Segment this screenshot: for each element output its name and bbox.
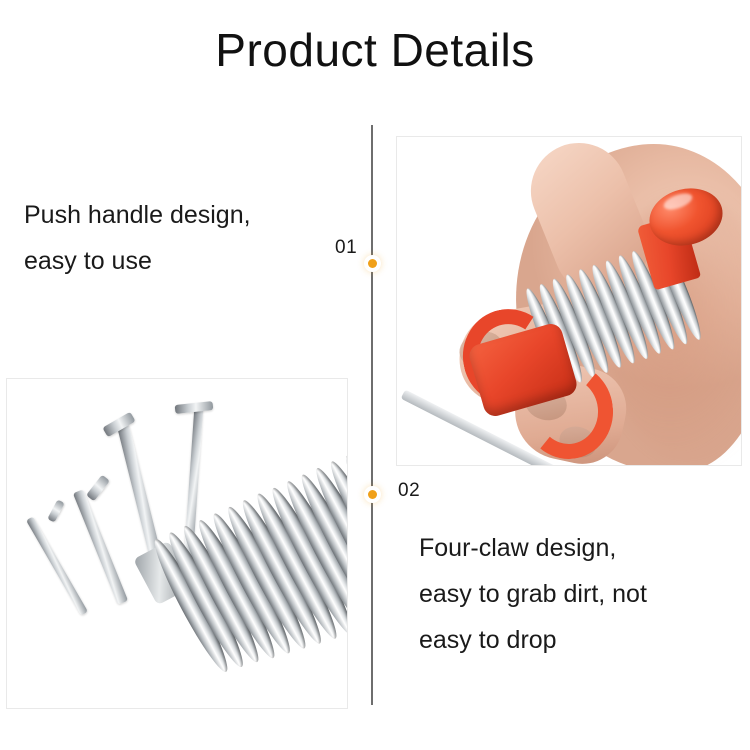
product-photo-four-claw [6,378,348,709]
product-details-infographic: Product Details 01 02 Push handle design… [0,0,750,750]
claw-4-tip [47,499,64,522]
claw-3-tip [86,475,110,502]
claw-4-arm [26,516,88,615]
feature-text-01: Push handle design, easy to use [24,192,334,284]
feature-01-line-1: Push handle design, [24,192,334,238]
feature-02-line-2: easy to grab dirt, not [419,571,739,617]
feature-text-02: Four-claw design, easy to grab dirt, not… [419,525,739,663]
timeline-divider [371,125,373,705]
timeline-dot-02 [368,490,377,499]
photo-push-handle-canvas [397,137,741,465]
photo-four-claw-canvas [7,379,347,708]
claw-3-arm [73,489,128,604]
step-number-01: 01 [335,237,357,259]
claw-1-tip [175,401,214,414]
feature-02-line-3: easy to drop [419,617,739,663]
product-photo-push-handle [396,136,742,466]
page-title: Product Details [0,22,750,78]
coiled-spring-body [147,427,348,709]
step-number-02: 02 [398,480,420,502]
timeline-dot-01 [368,259,377,268]
feature-01-line-2: easy to use [24,238,334,284]
feature-02-line-1: Four-claw design, [419,525,739,571]
